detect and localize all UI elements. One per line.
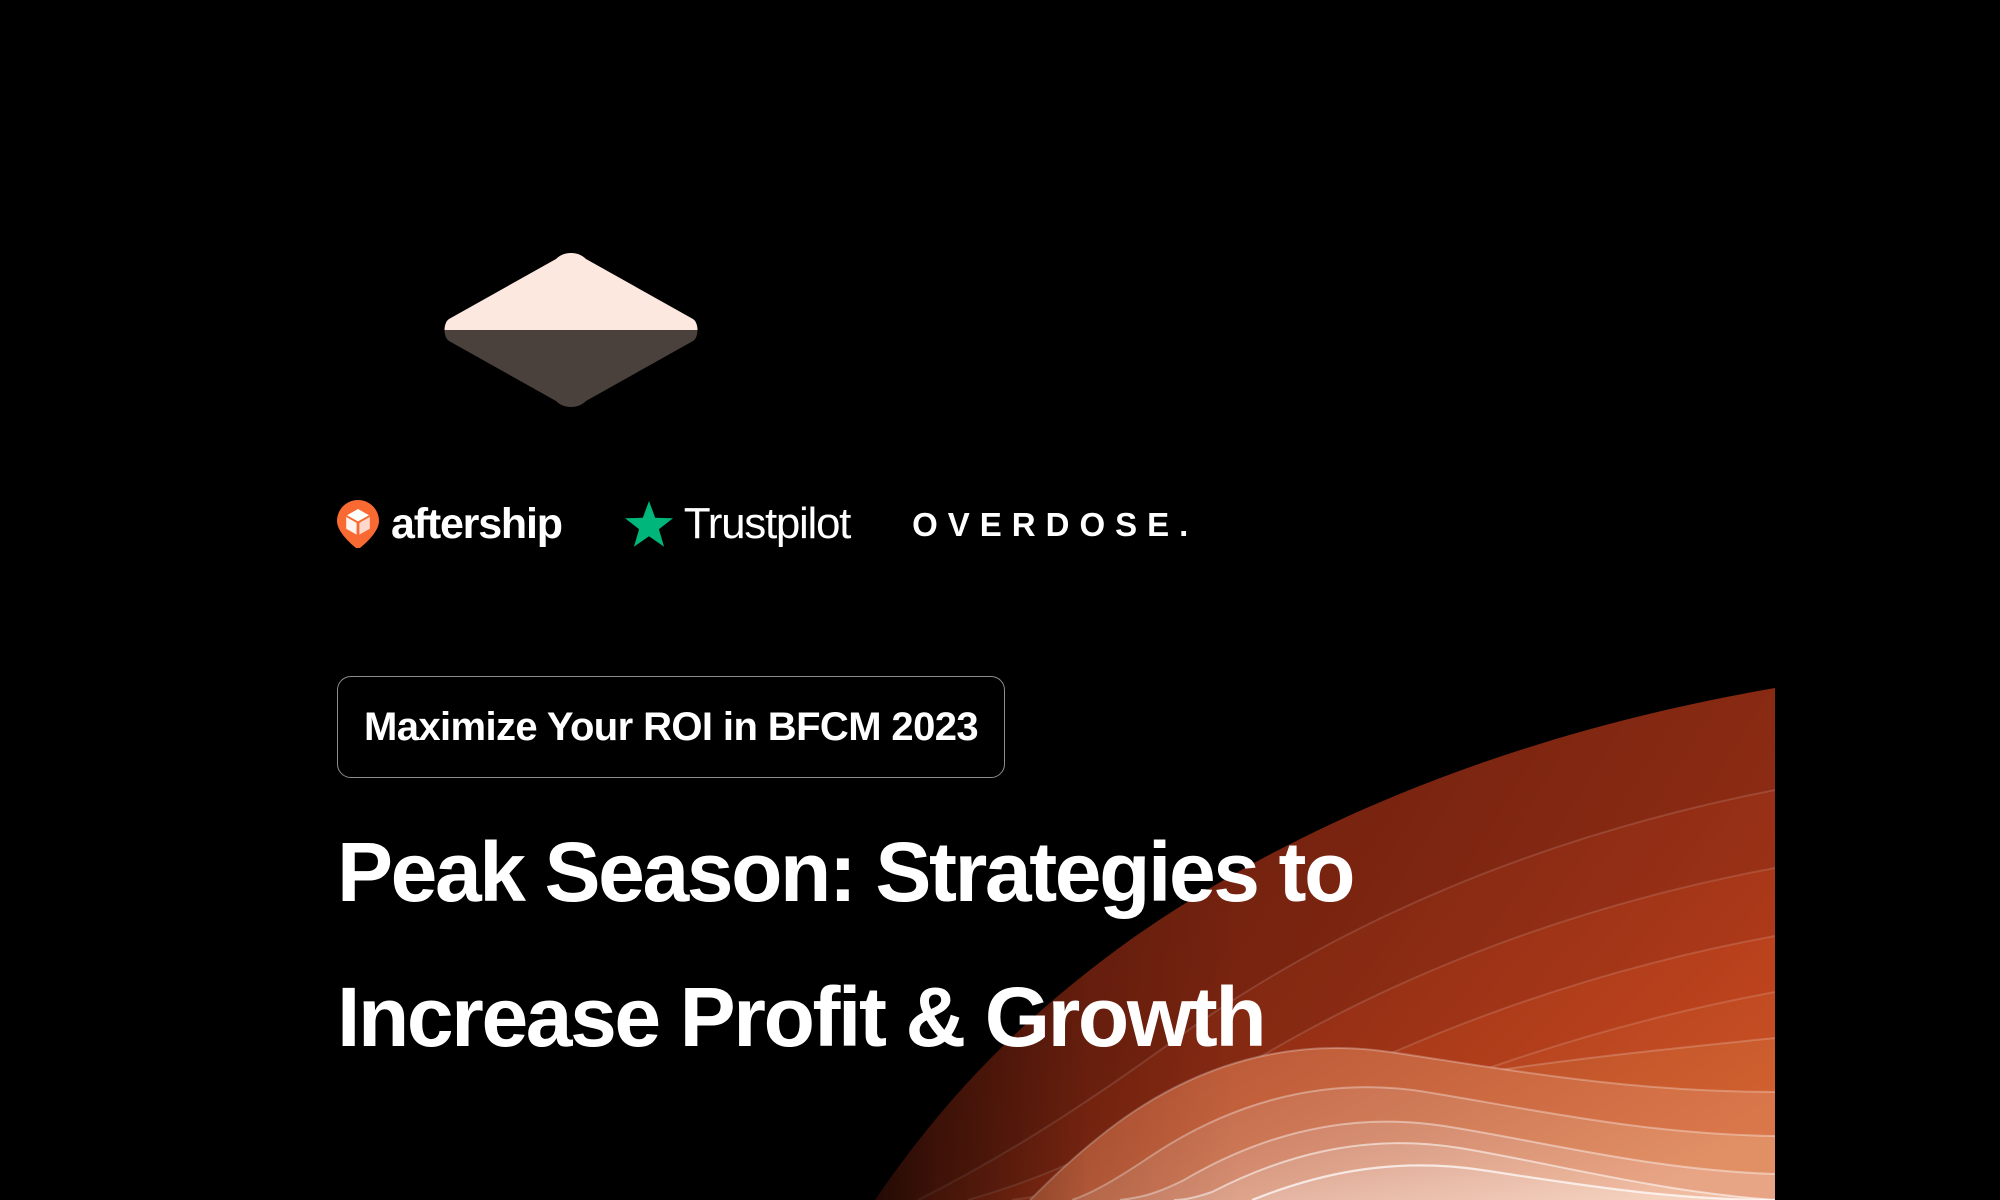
- partner-logo-overdose[interactable]: OVERDOSE.: [912, 492, 1198, 556]
- headline-line-1: Peak Season: Strategies to: [337, 800, 1637, 945]
- trustpilot-wordmark: Trustpilot: [684, 502, 850, 546]
- trustpilot-star-icon: [624, 500, 674, 548]
- aftership-pin-icon: [337, 500, 379, 548]
- roi-badge[interactable]: Maximize Your ROI in BFCM 2023: [337, 676, 1005, 778]
- aftership-wordmark: aftership: [391, 503, 562, 546]
- headline-line-2: Increase Profit & Growth: [337, 945, 1637, 1090]
- brand-logo: [440, 250, 702, 410]
- overdose-wordmark: OVERDOSE.: [912, 508, 1198, 541]
- partner-logo-trustpilot[interactable]: Trustpilot: [624, 492, 850, 556]
- partner-logo-strip: aftership Trustpilot OVERDOSE.: [337, 492, 1198, 556]
- page-title: Peak Season: Strategies to Increase Prof…: [337, 800, 1637, 1090]
- partner-logo-aftership[interactable]: aftership: [337, 492, 562, 556]
- hero-section: aftership Trustpilot OVERDOSE. Maximize …: [0, 0, 2000, 1200]
- roi-badge-label: Maximize Your ROI in BFCM 2023: [364, 707, 978, 747]
